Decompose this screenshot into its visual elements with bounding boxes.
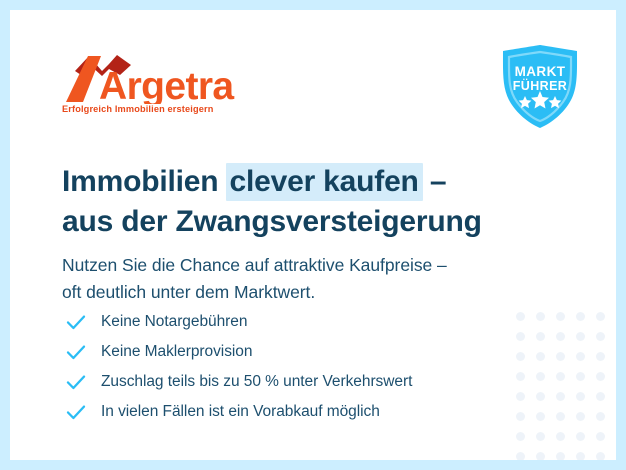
list-item-label: In vielen Fällen ist ein Vorabkauf mögli…	[101, 403, 380, 421]
dot	[576, 372, 585, 381]
dot	[576, 432, 585, 441]
dot	[536, 372, 545, 381]
list-item-label: Keine Maklerprovision	[101, 343, 252, 361]
dot	[516, 372, 525, 381]
dot	[596, 332, 605, 341]
headline-line1: Immobilien clever kaufen –	[62, 165, 446, 198]
headline-line2: aus der Zwangsversteigerung	[62, 203, 482, 241]
dot	[596, 452, 605, 461]
argetra-logo: Argetra Erfolgreich Immobilien ersteiger…	[62, 54, 252, 118]
list-item: Zuschlag teils bis zu 50 % unter Verkehr…	[65, 367, 412, 397]
subheading-line1: Nutzen Sie die Chance auf attraktive Kau…	[62, 255, 447, 275]
dot	[516, 452, 525, 461]
dot	[536, 452, 545, 461]
headline-part-after: –	[422, 165, 447, 198]
dot	[556, 312, 565, 321]
list-item: Keine Notargebühren	[65, 307, 412, 337]
dot	[576, 452, 585, 461]
logo-tagline: Erfolgreich Immobilien ersteigern	[62, 104, 213, 114]
dot	[516, 392, 525, 401]
dot	[516, 412, 525, 421]
dot	[536, 352, 545, 361]
headline-part-before: Immobilien	[62, 165, 227, 198]
dot	[576, 392, 585, 401]
checkmark-icon	[65, 371, 87, 393]
dot	[536, 392, 545, 401]
dot	[576, 332, 585, 341]
list-item: Keine Maklerprovision	[65, 337, 412, 367]
shield-badge-icon	[499, 44, 581, 130]
dot	[596, 312, 605, 321]
dot	[556, 452, 565, 461]
dot	[536, 412, 545, 421]
logo-mark-icon: Argetra	[62, 54, 252, 104]
list-item-label: Keine Notargebühren	[101, 313, 247, 331]
dot	[596, 432, 605, 441]
dot	[576, 312, 585, 321]
list-item: In vielen Fällen ist ein Vorabkauf mögli…	[65, 397, 412, 427]
subheading-line2: oft deutlich unter dem Marktwert.	[62, 282, 315, 302]
market-leader-badge: MARKT FÜHRER	[499, 44, 581, 130]
dot	[516, 312, 525, 321]
dot	[596, 392, 605, 401]
promo-card: Argetra Erfolgreich Immobilien ersteiger…	[10, 10, 616, 460]
dot	[516, 332, 525, 341]
dot	[576, 412, 585, 421]
svg-text:Argetra: Argetra	[99, 65, 234, 104]
dot	[576, 352, 585, 361]
dot	[556, 392, 565, 401]
dot	[516, 432, 525, 441]
checkmark-icon	[65, 401, 87, 423]
dot	[556, 432, 565, 441]
dot	[596, 352, 605, 361]
dot	[536, 432, 545, 441]
dot	[556, 352, 565, 361]
checkmark-icon	[65, 311, 87, 333]
subheading: Nutzen Sie die Chance auf attraktive Kau…	[62, 252, 447, 307]
dot	[516, 352, 525, 361]
dot	[596, 412, 605, 421]
dot-grid-decoration	[510, 306, 610, 460]
outer-frame: Argetra Erfolgreich Immobilien ersteiger…	[0, 0, 626, 470]
headline-highlight: clever kaufen	[226, 163, 423, 201]
dot	[556, 372, 565, 381]
benefits-checklist: Keine Notargebühren Keine Maklerprovisio…	[65, 307, 412, 427]
dot	[536, 332, 545, 341]
dot	[556, 412, 565, 421]
dot	[556, 332, 565, 341]
dot	[596, 372, 605, 381]
checkmark-icon	[65, 341, 87, 363]
list-item-label: Zuschlag teils bis zu 50 % unter Verkehr…	[101, 373, 412, 391]
headline: Immobilien clever kaufen – aus der Zwang…	[62, 163, 482, 241]
dot	[536, 312, 545, 321]
